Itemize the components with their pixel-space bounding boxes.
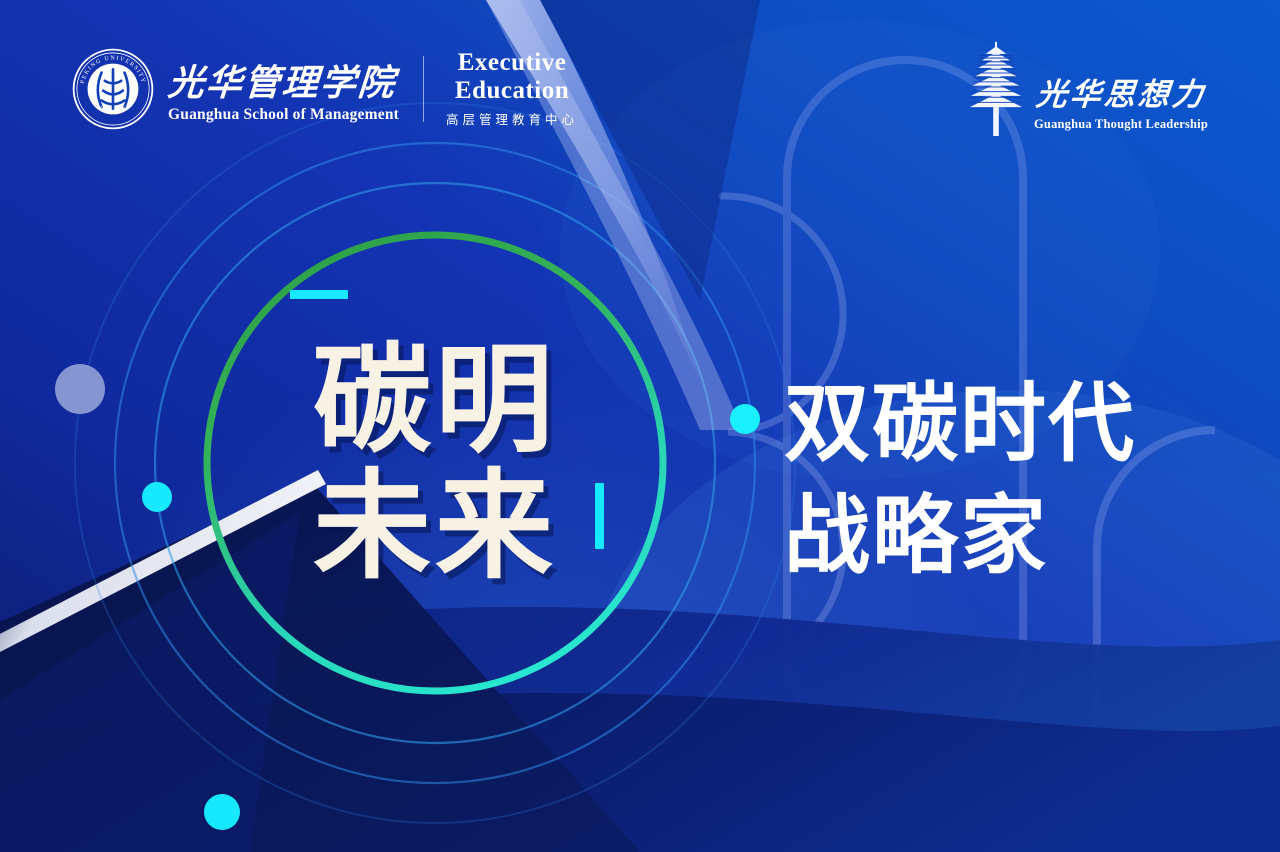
main-title: 碳明 未来 [205, 233, 665, 693]
main-title-ring-area: 碳明 未来 [205, 233, 665, 693]
program-en-line2: Education [455, 78, 569, 103]
program-en-line1: Executive [458, 50, 567, 75]
subtitle-line1: 双碳时代 [784, 368, 1136, 480]
cyan-dot-bottom-left [204, 794, 240, 830]
brand-name-en: Guanghua Thought Leadership [1034, 117, 1208, 132]
cyan-dot-mid-left [142, 482, 172, 512]
school-name-cn: 光华管理学院 [167, 65, 398, 101]
subtitle-block: 双碳时代 战略家 [730, 368, 1136, 592]
subtitle-lines: 双碳时代 战略家 [784, 368, 1136, 592]
guanghua-logo-lockup: PEKING UNIVERSITY 1 8 9 8 光华管理学院 Guanghu… [72, 48, 578, 130]
lavender-dot [55, 364, 105, 414]
subtitle-line2: 战略家 [784, 480, 1136, 592]
main-title-line2: 未来 [313, 463, 557, 589]
thought-leadership-text: 光华思想力 Guanghua Thought Leadership [1034, 79, 1208, 136]
brand-name-cn: 光华思想力 [1035, 79, 1208, 110]
executive-education-block: Executive Education 高层管理教育中心 [446, 50, 578, 128]
school-name-cn-row: 光华管理学院 [168, 55, 399, 101]
cyan-dot-icon [730, 404, 760, 434]
main-title-line1: 碳明 [313, 337, 557, 463]
peking-university-seal: PEKING UNIVERSITY 1 8 9 8 [72, 48, 154, 130]
cyan-bar-vertical-icon [595, 483, 604, 549]
poster-canvas: PEKING UNIVERSITY 1 8 9 8 光华管理学院 Guanghu… [0, 0, 1280, 852]
school-name-en: Guanghua School of Management [168, 106, 399, 124]
school-name-block: 光华管理学院 Guanghua School of Management [168, 55, 399, 124]
logo-divider [423, 56, 424, 122]
pagoda-icon [968, 38, 1024, 136]
cyan-bar-horizontal-icon [290, 290, 348, 299]
program-cn: 高层管理教育中心 [446, 109, 578, 128]
thought-leadership-lockup: 光华思想力 Guanghua Thought Leadership [968, 38, 1208, 136]
